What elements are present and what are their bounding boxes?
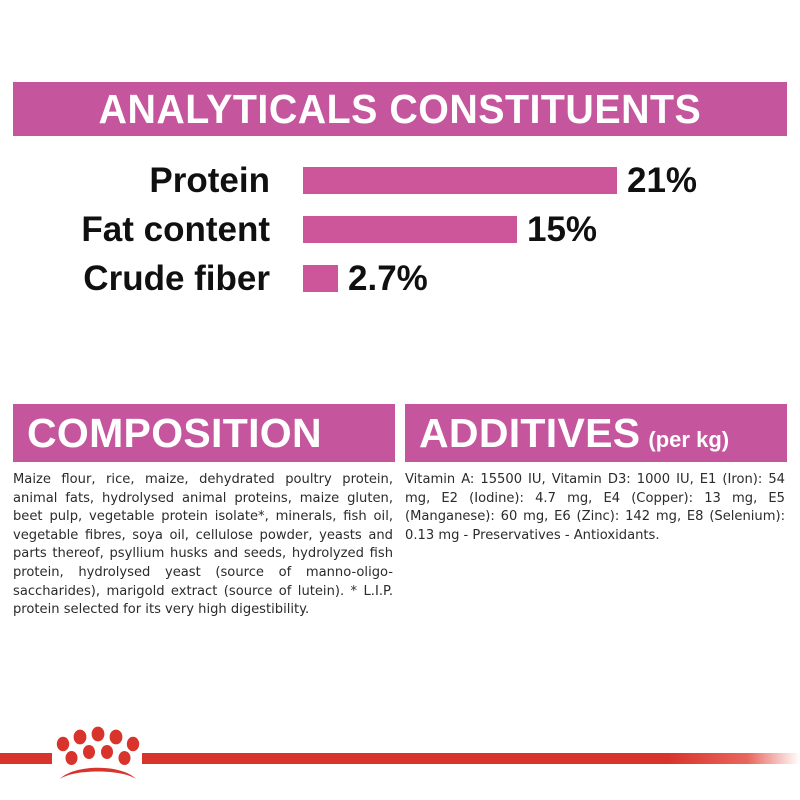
chart-bar-label: Crude fiber [0, 261, 270, 296]
composition-header: COMPOSITION [13, 404, 395, 462]
chart-bar-label: Protein [0, 163, 270, 198]
footer-rule-right [142, 753, 800, 764]
additives-panel: ADDITIVES (per kg) Vitamin A: 15500 IU, … [405, 404, 787, 545]
chart-bar-label: Fat content [0, 212, 270, 247]
composition-header-title: COMPOSITION [27, 413, 322, 454]
analytical-constituents-title: ANALYTICALS CONSTITUENTS [99, 89, 702, 130]
chart-row: Protein 21% [0, 156, 800, 204]
chart-bar [303, 167, 617, 194]
product-label-page: ANALYTICALS CONSTITUENTS Protein 21% Fat… [0, 0, 800, 800]
chart-bar-area: 2.7% [303, 254, 428, 302]
additives-header: ADDITIVES (per kg) [405, 404, 787, 462]
chart-bar-value: 15% [527, 212, 597, 247]
chart-bar-value: 21% [627, 163, 697, 198]
chart-row: Crude fiber 2.7% [0, 254, 800, 302]
chart-row: Fat content 15% [0, 205, 800, 253]
footer-rule-left [0, 753, 52, 764]
additives-header-title: ADDITIVES [419, 413, 640, 454]
royal-canin-crown-icon [52, 724, 144, 784]
chart-bar-area: 21% [303, 156, 697, 204]
additives-header-unit: (per kg) [648, 429, 729, 462]
composition-body-text: Maize flour, rice, maize, dehydrated pou… [13, 471, 395, 620]
additives-body-text: Vitamin A: 15500 IU, Vitamin D3: 1000 IU… [405, 471, 787, 545]
analytical-constituents-banner: ANALYTICALS CONSTITUENTS [13, 82, 787, 136]
chart-bar-value: 2.7% [348, 261, 428, 296]
chart-bar [303, 216, 517, 243]
chart-bar [303, 265, 338, 292]
analytical-constituents-chart: Protein 21% Fat content 15% Crude fiber … [0, 152, 800, 312]
chart-bar-area: 15% [303, 205, 597, 253]
composition-panel: COMPOSITION Maize flour, rice, maize, de… [13, 404, 395, 620]
